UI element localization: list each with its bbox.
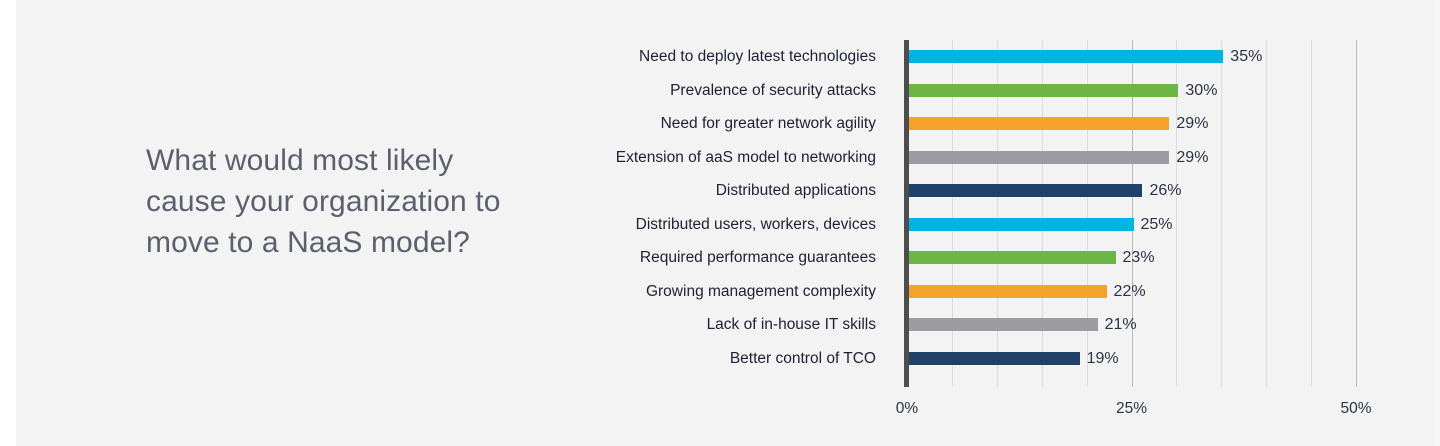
bar[interactable] [909,50,1223,63]
bar[interactable] [909,84,1178,97]
x-tick-label: 25% [1116,400,1147,418]
category-label: Distributed applications [716,174,876,208]
question-line-3: move to a NaaS model? [146,222,546,263]
category-label: Need for greater network agility [661,107,876,141]
bar[interactable] [909,285,1107,298]
plot-area: Need to deploy latest technologies35%Pre… [580,28,1410,428]
category-label: Required performance guarantees [640,241,876,275]
bar-value-label: 26% [1142,174,1181,208]
bar-row: Better control of TCO19% [580,342,1410,376]
bar-row: Need to deploy latest technologies35% [580,40,1410,74]
bar-row: Need for greater network agility29% [580,107,1410,141]
bar-value-label: 21% [1098,308,1137,342]
question-block: What would most likely cause your organi… [60,140,560,280]
left-margin [0,0,16,446]
bar-value-label: 30% [1178,74,1217,108]
bar[interactable] [909,352,1080,365]
question-line-2: cause your organization to [146,181,546,222]
bar-row: Prevalence of security attacks30% [580,74,1410,108]
bar[interactable] [909,184,1142,197]
orange-dot-icon [90,181,117,208]
category-label: Extension of aaS model to networking [616,141,876,175]
bar-chart: Need to deploy latest technologies35%Pre… [580,28,1410,428]
bar-row: Lack of in-house IT skills21% [580,308,1410,342]
x-axis-ticks: 0%25%50% [907,400,1367,428]
category-label: Prevalence of security attacks [670,74,876,108]
category-label: Lack of in-house IT skills [707,308,876,342]
decorative-dots [60,140,120,220]
x-tick-label: 50% [1340,400,1371,418]
bar-rows: Need to deploy latest technologies35%Pre… [580,40,1410,375]
bar-row: Extension of aaS model to networking29% [580,141,1410,175]
bar-value-label: 19% [1080,342,1119,376]
category-label: Distributed users, workers, devices [636,208,876,242]
slide-canvas: What would most likely cause your organi… [0,0,1440,446]
bar-value-label: 35% [1223,40,1262,74]
bar[interactable] [909,151,1169,164]
bar[interactable] [909,251,1116,264]
bar-value-label: 22% [1107,275,1146,309]
bar-value-label: 29% [1169,107,1208,141]
bar[interactable] [909,218,1134,231]
category-label: Need to deploy latest technologies [639,40,876,74]
bar-value-label: 29% [1169,141,1208,175]
bar[interactable] [909,318,1098,331]
green-dot-icon [66,155,91,180]
right-margin [1434,0,1440,446]
question-title: What would most likely cause your organi… [146,140,546,263]
bar-row: Distributed users, workers, devices25% [580,208,1410,242]
cyan-dot-icon [66,205,93,232]
bar-row: Distributed applications26% [580,174,1410,208]
question-line-1: What would most likely [146,140,546,181]
category-label: Better control of TCO [730,342,876,376]
bar-value-label: 23% [1116,241,1155,275]
bar[interactable] [909,117,1169,130]
x-tick-label: 0% [896,400,918,418]
bar-row: Required performance guarantees23% [580,241,1410,275]
category-label: Growing management complexity [646,275,876,309]
bar-value-label: 25% [1134,208,1173,242]
bar-row: Growing management complexity22% [580,275,1410,309]
